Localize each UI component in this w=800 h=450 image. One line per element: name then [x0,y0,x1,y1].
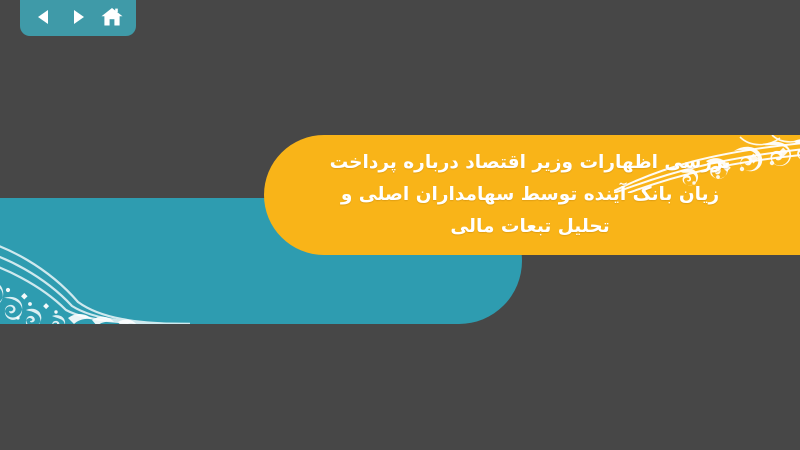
arabesque-scroll-ornament [614,135,800,193]
orange-title-band [264,135,800,255]
forward-button[interactable] [65,4,91,30]
home-icon [100,5,124,29]
back-button[interactable] [31,4,57,30]
slide-canvas: بررسی اظهارات وزیر اقتصاد درباره پرداخت … [0,0,800,450]
triangle-right-icon [67,6,89,28]
triangle-left-icon [33,6,55,28]
navigation-bar [20,0,136,36]
home-button[interactable] [99,4,125,30]
arabesque-corner-ornament [0,198,190,324]
